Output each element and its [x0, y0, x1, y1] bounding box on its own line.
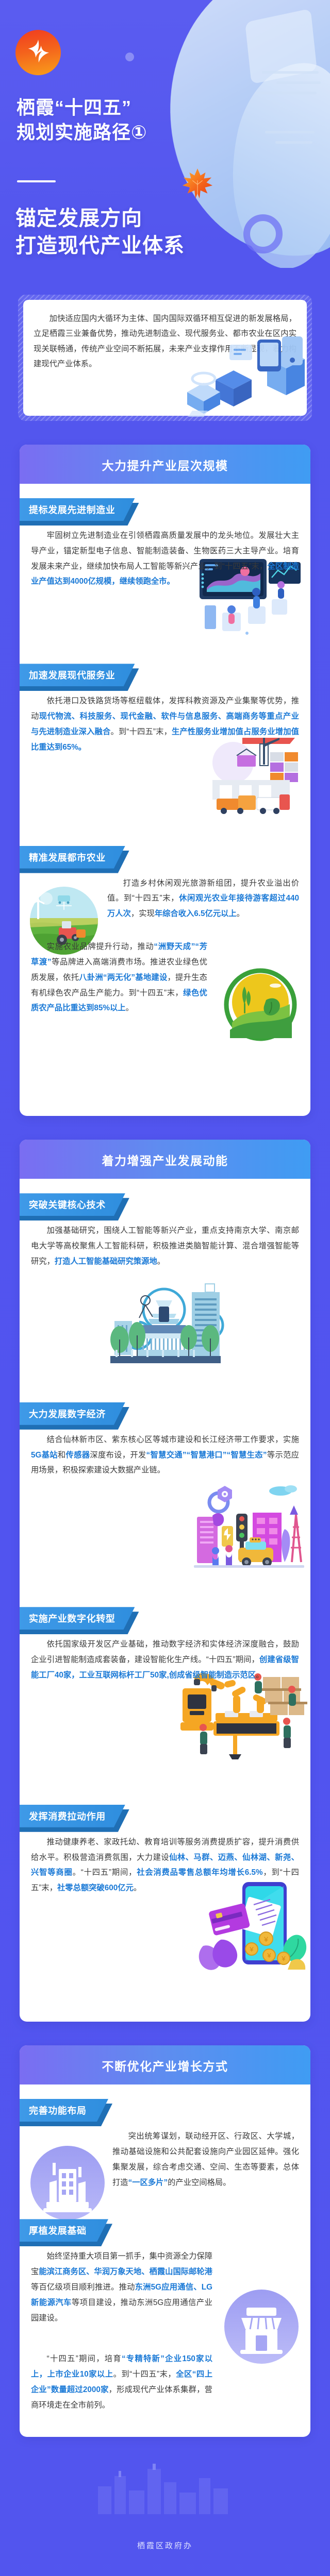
paragraph: 突出统筹谋划，联动经开区、行政区、大学城，推动基础设施和公共配套设施向产业园区延…: [20, 2124, 310, 2190]
hero-decor-line-1: [262, 71, 319, 74]
hero-decor-line-5: [275, 141, 312, 144]
hero-decor-dot: [125, 53, 134, 61]
hero-decor-line-4: [265, 131, 315, 133]
hero-subtitle-line-1: 锚定发展方向: [15, 205, 185, 232]
hero-title-line-1: 栖霞“十四五”: [16, 95, 147, 120]
hero-decor-line-2: [276, 81, 321, 84]
subsection-content: 结合仙林新市区、紫东核心区等城市建设和长江经济带工作要求，实施5G基站和传感器深…: [20, 1427, 310, 1594]
hero-subtitle-line-2: 打造现代产业体系: [15, 232, 185, 260]
paragraph: 推动健康养老、家政托幼、教育培训等服务消费提质扩容，提升消费供给水平。积极营造消…: [20, 1829, 310, 1896]
subsection-label: 完善功能布局: [20, 2099, 108, 2122]
run-plain: 等百亿级项目顺利推进。推动: [31, 2283, 135, 2292]
footer-text: 栖霞区政府办: [0, 2514, 330, 2568]
hero-banner: 栖霞“十四五” 规划实施路径① 锚定发展方向 打造现代产业体系: [0, 0, 330, 268]
svg-text:¥: ¥: [267, 1952, 271, 1959]
paragraph: 依托国家级开发区产业基础，推动数字经济和实体经济深度融合，鼓励企业引进智能制造成…: [20, 1632, 310, 1683]
subsection-content: 依托国家级开发区产业基础，推动数字经济和实体经济深度融合，鼓励企业引进智能制造成…: [20, 1632, 310, 1791]
subsection-label: 厚植发展基础: [20, 2219, 108, 2242]
run-plain: 。: [126, 1004, 134, 1012]
subsection-label: 突破关键核心技术: [20, 1193, 125, 1216]
run-plain: 深度布设，开发: [90, 1451, 146, 1460]
city-skyline-footer-illustration: [88, 2458, 242, 2514]
subsection-header-core-technology: 突破关键核心技术: [20, 1193, 125, 1216]
subsection-label: 大力发展数字经济: [20, 1402, 125, 1425]
run-plain: 的产业空间格局。: [168, 2178, 230, 2187]
run-plain: “十四五”期间，培育: [47, 2354, 122, 2363]
subsection-label: 发挥消费拉动作用: [20, 1805, 125, 1827]
paragraph: 始终坚持重大项目第一抓手，集中资源全力保障宝能滨江商务区、华润万象天地、栖霞山国…: [20, 2244, 310, 2326]
paragraph: 牢固树立先进制造业在引领栖霞高质量发展中的龙头地位。发展壮大主导产业，锚定新型电…: [20, 523, 310, 589]
run-highlight: “智慧交通”“智慧港口”“智慧生态”: [146, 1451, 267, 1460]
run-highlight: 年综合收入6.5亿元以上: [155, 909, 237, 918]
run-plain: 。到“十四五”末，: [110, 727, 172, 736]
run-highlight: 5G基站: [31, 1451, 58, 1460]
section-title: 不断优化产业增长方式: [20, 2045, 310, 2084]
subsection-content: 打造乡村休闲观光旅游新组团，提升农业溢出价值。到“十四五”末，休闲观光农业年接待…: [20, 871, 310, 934]
subsection-content: 依托港口及铁路货场等枢纽载体，发挥科教资源及产业集聚等优势，推动现代物流、科技服…: [20, 688, 310, 832]
subsection-label: 实施产业数字化转型: [20, 1607, 135, 1630]
subsection-header-consumption-driver: 发挥消费拉动作用: [20, 1805, 125, 1827]
paragraph: 实施农业品牌提升行动，推动“洲野天成”“芳草渡”等品牌进入高端消费市场。推进农业…: [20, 934, 310, 1016]
run-highlight: 传感器: [66, 1451, 90, 1460]
run-plain: ，实现: [131, 909, 155, 918]
hero-title-line-2: 规划实施路径①: [16, 120, 147, 145]
subsection-label: 提标发展先进制造业: [20, 498, 135, 521]
subsection-content: 突出统筹谋划，联动经开区、行政区、大学城，推动基础设施和公共配套设施向产业园区延…: [20, 2124, 310, 2206]
run-highlight: “一区多片”: [128, 2178, 168, 2187]
subsection-content: 牢固树立先进制造业在引领栖霞高质量发展中的龙头地位。发展壮大主导产业，锚定新型电…: [20, 523, 310, 650]
subsection-content: 推动健康养老、家政托幼、教育培训等服务消费提质扩容，提升消费供给水平。积极营造消…: [20, 1829, 310, 2008]
infographic-page: 栖霞“十四五” 规划实施路径① 锚定发展方向 打造现代产业体系 加快适应国内大循…: [0, 0, 330, 2576]
run-plain: 实施农业品牌提升行动，推动: [47, 942, 154, 951]
run-plain: 。: [134, 1884, 141, 1892]
subsection-header-digital-transformation: 实施产业数字化转型: [20, 1607, 135, 1630]
section-body: 突破关键核心技术 加强基础研究，围绕人工智能等新兴产业，重点支持南京大学、南京邮…: [20, 1179, 310, 2022]
subsection-content-2: 实施农业品牌提升行动，推动“洲野天成”“芳草渡”等品牌进入高端消费市场。推进农业…: [20, 934, 310, 1103]
smart-city-illustration: [189, 1484, 307, 1587]
run-highlight: 八卦洲“两无化”基地建设: [79, 973, 167, 982]
run-plain: 结合仙林新市区、紫东核心区等城市建设和长江经济带工作要求，实施: [47, 1435, 299, 1444]
subsection-header-function-layout: 完善功能布局: [20, 2099, 108, 2122]
section-title: 着力增强产业发展动能: [20, 1140, 310, 1179]
subsection-header-urban-agriculture: 精准发展都市农业: [20, 846, 125, 869]
run-highlight: 社会消费品零售总额年均增长6.5%: [137, 1868, 262, 1877]
hero-title: 栖霞“十四五” 规划实施路径①: [16, 95, 147, 144]
run-plain: 。: [237, 909, 244, 918]
run-plain: 牢固树立先进制造业在引领栖霞高质量发展中的龙头地位。发展壮大主导产业，锚定新型电…: [31, 531, 299, 571]
run-plain: 。“十四五”期间，: [73, 1868, 137, 1877]
run-highlight: 能滨江商务区、华润万象天地、栖霞山国际邮轮港: [39, 2267, 212, 2276]
hero-decor-ring: [243, 214, 283, 253]
paragraph: 加强基础研究，围绕人工智能等新兴产业，重点支持南京大学、南京邮电大学等高校聚焦人…: [20, 1218, 310, 1269]
paragraph: 结合仙林新市区、紫东核心区等城市建设和长江经济带工作要求，实施5G基站和传感器深…: [20, 1427, 310, 1478]
subsection-header-modern-services: 加速发展现代服务业: [20, 664, 135, 686]
section-industry-scale: 大力提升产业层次规模 提标发展先进制造业 牢固树立先进制造业在引领栖霞高质量发展…: [20, 445, 310, 1116]
hero-subtitle: 锚定发展方向 打造现代产业体系: [15, 205, 185, 260]
subsection-content: 加强基础研究，围绕人工智能等新兴产业，重点支持南京大学、南京邮电大学等高校聚焦人…: [20, 1218, 310, 1388]
subsection-header-advanced-manufacturing: 提标发展先进制造业: [20, 498, 135, 521]
subsection-content: 始终坚持重大项目第一抓手，集中资源全力保障宝能滨江商务区、华润万象天地、栖霞山国…: [20, 2244, 310, 2423]
qixia-maple-leaf-logo: [15, 30, 61, 75]
city-architecture-illustration: [88, 1278, 242, 1381]
run-plain: 。: [157, 1257, 165, 1266]
section-development-momentum: 着力增强产业发展动能 突破关键核心技术 加强基础研究，围绕人工智能等新兴产业，重…: [20, 1140, 310, 2022]
intro-card-inner: 加快适应国内大循环为主体、国内国际双循环相互促进的新发展格局，立足栖霞三业兼备优…: [23, 300, 307, 416]
section-growth-mode: 不断优化产业增长方式 完善功能布局: [20, 2045, 310, 2437]
hero-decor-line-3: [255, 92, 317, 94]
section-body: 完善功能布局: [20, 2084, 310, 2437]
subsection-label: 精准发展都市农业: [20, 846, 125, 869]
subsection-header-digital-economy: 大力发展数字经济: [20, 1402, 125, 1425]
subsection-label: 加速发展现代服务业: [20, 664, 135, 686]
run-plain: 。: [256, 1671, 263, 1680]
hero-divider: [17, 180, 56, 182]
svg-text:¥: ¥: [281, 1955, 286, 1962]
svg-text:¥: ¥: [249, 1945, 254, 1953]
run-plain: 。到“十四五”末，: [113, 2370, 176, 2379]
section-body: 提标发展先进制造业 牢固树立先进制造业在引领栖霞高质量发展中的龙头地位。发展壮大…: [20, 484, 310, 1116]
intro-card: 加快适应国内大循环为主体、国内国际双循环相互促进的新发展格局，立足栖霞三业兼备优…: [18, 295, 312, 421]
run-plain: 和: [58, 1451, 66, 1460]
section-title: 大力提升产业层次规模: [20, 445, 310, 484]
paragraph: 打造乡村休闲观光旅游新组团，提升农业溢出价值。到“十四五”末，休闲观光农业年接待…: [20, 871, 310, 922]
paragraph: 依托港口及铁路货场等枢纽载体，发挥科教资源及产业集聚等优势，推动现代物流、科技服…: [20, 688, 310, 755]
paragraph-2: “十四五”期间，培育“专精特新”企业150家以上，上市企业10家以上。到“十四五…: [20, 2346, 310, 2413]
intro-paragraph: 加快适应国内大循环为主体、国内国际双循环相互促进的新发展格局，立足栖霞三业兼备优…: [34, 311, 296, 371]
maple-leaf-icon: [181, 167, 213, 202]
svg-text:¥: ¥: [263, 1935, 268, 1943]
subsection-header-development-foundation: 厚植发展基础: [20, 2219, 108, 2242]
run-highlight: 打造人工智能基础研究策源地: [55, 1257, 157, 1266]
run-highlight: 社零总额突破600亿元: [57, 1884, 134, 1892]
